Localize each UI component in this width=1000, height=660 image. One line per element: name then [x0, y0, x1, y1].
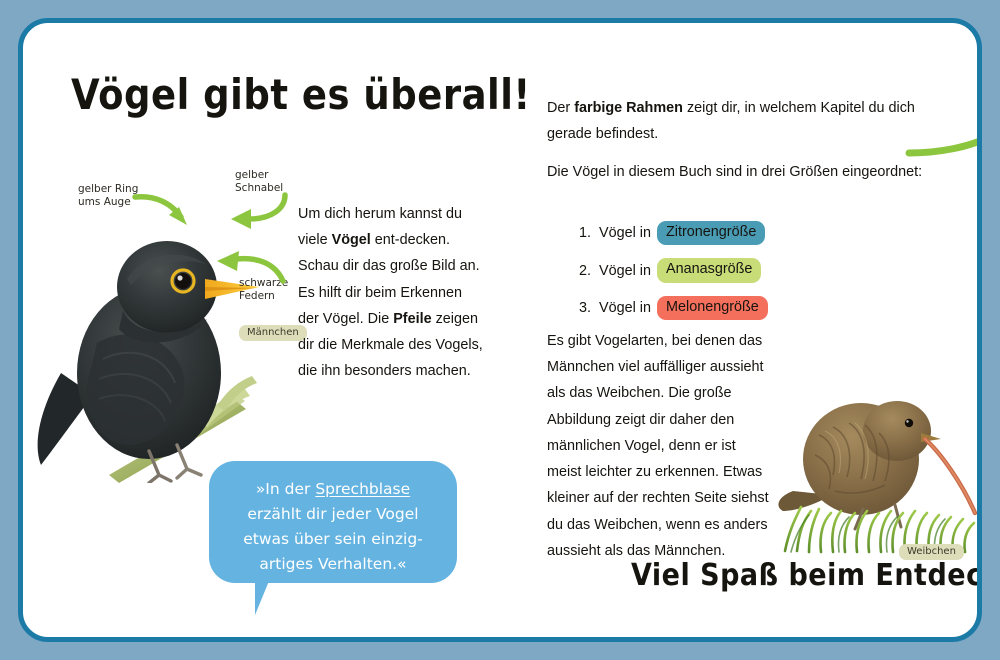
female-blackbird-illustration: [775, 379, 980, 554]
caption-chip-male: Männchen: [239, 325, 307, 341]
right-column-paragraph-frame: Der farbige Rahmen zeigt dir, in welchem…: [547, 95, 927, 147]
arrow-icon-eye-ring: [133, 191, 193, 231]
closing-heading: Viel Spaß beim Entdecken!: [631, 558, 982, 593]
size-list-item-3: 3. Vögel in Melonengröße: [579, 296, 909, 320]
speech-bubble-text: »In der Sprechblase erzählt dir jeder Vo…: [209, 477, 457, 577]
size-number-2: 2.: [579, 263, 599, 279]
size-badge-zitronengroesse: Zitronengröße: [657, 221, 765, 245]
left-column-paragraph: Um dich herum kannst du viele Vögel ent-…: [298, 201, 484, 385]
right-column-paragraph-male-female-text: Es gibt Vogelarten, bei denen das Männch…: [547, 333, 769, 559]
annotation-label-beak: gelber Schnabel: [235, 169, 283, 196]
speech-bubble-tail: [255, 581, 278, 615]
page-card: Vögel gibt es überall!: [18, 18, 982, 642]
size-lead-1: Vögel in: [599, 225, 651, 241]
annotation-label-eye-ring: gelber Ring ums Auge: [78, 183, 138, 210]
size-lead-3: Vögel in: [599, 300, 651, 316]
speech-bubble: »In der Sprechblase erzählt dir jeder Vo…: [209, 461, 457, 583]
right-column-paragraph-sizes-intro: Die Vögel in diesem Buch sind in drei Gr…: [547, 159, 927, 185]
arrow-icon-beak: [219, 193, 289, 233]
size-list-item-2: 2. Vögel in Ananasgröße: [579, 258, 909, 282]
size-category-list: 1. Vögel in Zitronengröße 2. Vögel in An…: [579, 221, 909, 333]
size-number-1: 1.: [579, 225, 599, 241]
arrow-icon-feathers: [209, 251, 287, 291]
size-list-item-1: 1. Vögel in Zitronengröße: [579, 221, 909, 245]
size-badge-ananasgroesse: Ananasgröße: [657, 258, 761, 282]
page-title: Vögel gibt es überall!: [71, 71, 531, 119]
size-lead-2: Vögel in: [599, 263, 651, 279]
size-badge-melonengroesse: Melonengröße: [657, 296, 768, 320]
size-number-3: 3.: [579, 300, 599, 316]
